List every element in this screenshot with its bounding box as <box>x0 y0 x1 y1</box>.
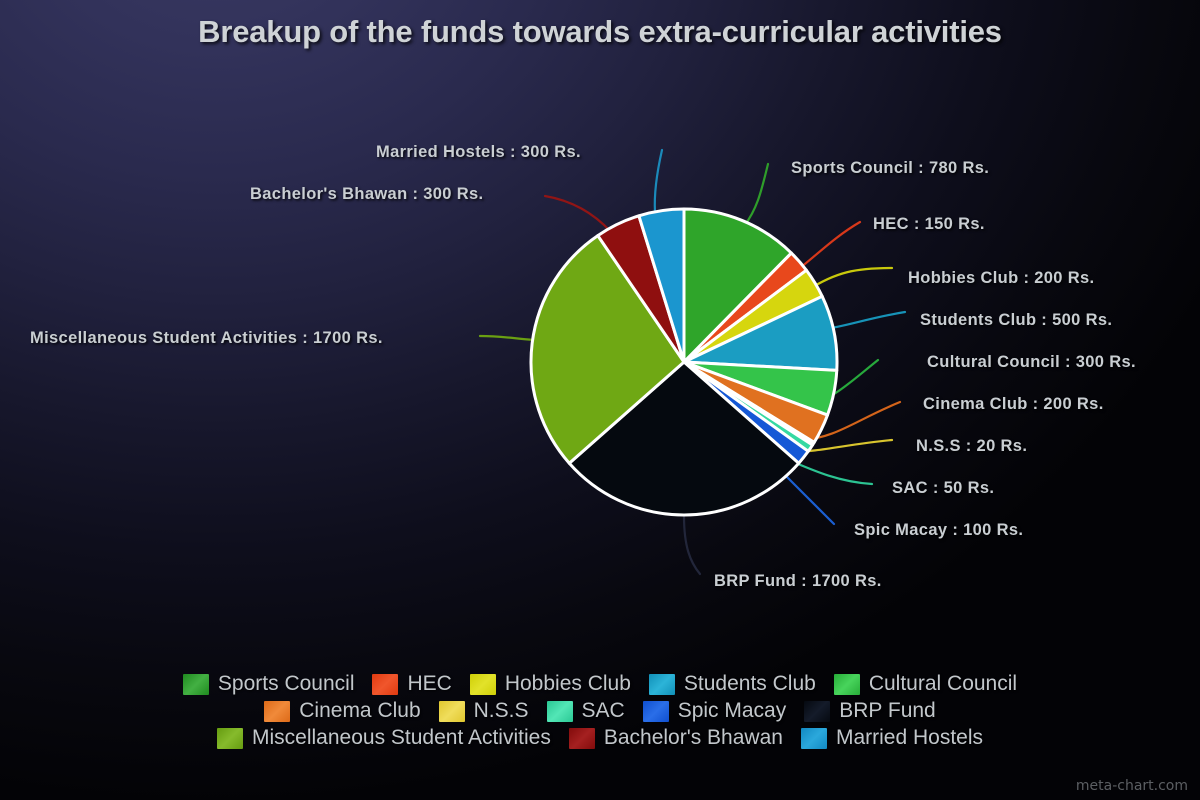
legend-item-n-s-s[interactable]: N.S.S <box>439 699 529 723</box>
legend-item-hobbies-club[interactable]: Hobbies Club <box>470 672 631 696</box>
legend-row: Sports CouncilHECHobbies ClubStudents Cl… <box>174 672 1026 696</box>
legend-swatch-icon <box>569 728 595 749</box>
legend-item-label: Bachelor's Bhawan <box>604 726 783 750</box>
pie-slice-group <box>531 209 837 515</box>
legend-row: Cinema ClubN.S.SSACSpic MacayBRP Fund <box>255 699 944 723</box>
callout-hec: HEC : 150 Rs. <box>873 215 985 234</box>
legend-swatch-icon <box>804 701 830 722</box>
leader-miscellaneous <box>480 336 534 340</box>
legend-swatch-icon <box>643 701 669 722</box>
leader-sports-council <box>744 164 768 226</box>
legend-item-spic-macay[interactable]: Spic Macay <box>643 699 787 723</box>
legend-item-label: Hobbies Club <box>505 672 631 696</box>
legend-item-label: BRP Fund <box>839 699 936 723</box>
legend-item-sac[interactable]: SAC <box>547 699 625 723</box>
legend-swatch-icon <box>470 674 496 695</box>
legend-item-label: HEC <box>407 672 451 696</box>
callout-miscellaneous: Miscellaneous Student Activities : 1700 … <box>30 329 383 348</box>
legend-item-label: Cinema Club <box>299 699 420 723</box>
callout-sac: SAC : 50 Rs. <box>892 479 994 498</box>
leader-hobbies-club <box>808 268 892 290</box>
legend-item-label: Married Hostels <box>836 726 983 750</box>
callout-brp-fund: BRP Fund : 1700 Rs. <box>714 572 882 591</box>
legend-item-label: Sports Council <box>218 672 355 696</box>
callout-bachelors-bhawan: Bachelor's Bhawan : 300 Rs. <box>250 185 483 204</box>
legend-item-married-hostels[interactable]: Married Hostels <box>801 726 983 750</box>
legend-item-label: Spic Macay <box>678 699 787 723</box>
legend-item-label: Miscellaneous Student Activities <box>252 726 551 750</box>
legend-item-miscellaneous-student-activities[interactable]: Miscellaneous Student Activities <box>217 726 551 750</box>
callout-spic-macay: Spic Macay : 100 Rs. <box>854 521 1023 540</box>
callout-married-hostels: Married Hostels : 300 Rs. <box>376 143 581 162</box>
callout-cinema-club: Cinema Club : 200 Rs. <box>923 395 1104 414</box>
legend-swatch-icon <box>649 674 675 695</box>
legend-row: Miscellaneous Student ActivitiesBachelor… <box>208 726 992 750</box>
legend-item-label: N.S.S <box>474 699 529 723</box>
callout-nss: N.S.S : 20 Rs. <box>916 437 1027 456</box>
legend-swatch-icon <box>264 701 290 722</box>
leader-hec <box>800 222 860 268</box>
legend-item-bachelor-s-bhawan[interactable]: Bachelor's Bhawan <box>569 726 783 750</box>
callout-hobbies-club: Hobbies Club : 200 Rs. <box>908 269 1095 288</box>
legend-item-label: Students Club <box>684 672 816 696</box>
legend-item-cultural-council[interactable]: Cultural Council <box>834 672 1017 696</box>
callout-students-club: Students Club : 500 Rs. <box>920 311 1112 330</box>
legend-swatch-icon <box>547 701 573 722</box>
chart-legend: Sports CouncilHECHobbies ClubStudents Cl… <box>0 672 1200 750</box>
leader-married-hostels <box>655 150 662 212</box>
leader-bachelors-bhawan <box>545 196 611 232</box>
legend-item-cinema-club[interactable]: Cinema Club <box>264 699 420 723</box>
callout-sports-council: Sports Council : 780 Rs. <box>791 159 989 178</box>
legend-item-label: Cultural Council <box>869 672 1017 696</box>
legend-swatch-icon <box>801 728 827 749</box>
legend-swatch-icon <box>372 674 398 695</box>
legend-swatch-icon <box>834 674 860 695</box>
legend-item-hec[interactable]: HEC <box>372 672 451 696</box>
leader-brp-fund <box>684 516 700 574</box>
legend-item-label: SAC <box>582 699 625 723</box>
chart-canvas: Breakup of the funds towards extra-curri… <box>0 0 1200 800</box>
callout-cultural-council: Cultural Council : 300 Rs. <box>927 353 1136 372</box>
legend-item-brp-fund[interactable]: BRP Fund <box>804 699 936 723</box>
legend-item-students-club[interactable]: Students Club <box>649 672 816 696</box>
watermark: meta-chart.com <box>1076 778 1188 794</box>
legend-swatch-icon <box>217 728 243 749</box>
legend-swatch-icon <box>439 701 465 722</box>
legend-swatch-icon <box>183 674 209 695</box>
legend-item-sports-council[interactable]: Sports Council <box>183 672 355 696</box>
